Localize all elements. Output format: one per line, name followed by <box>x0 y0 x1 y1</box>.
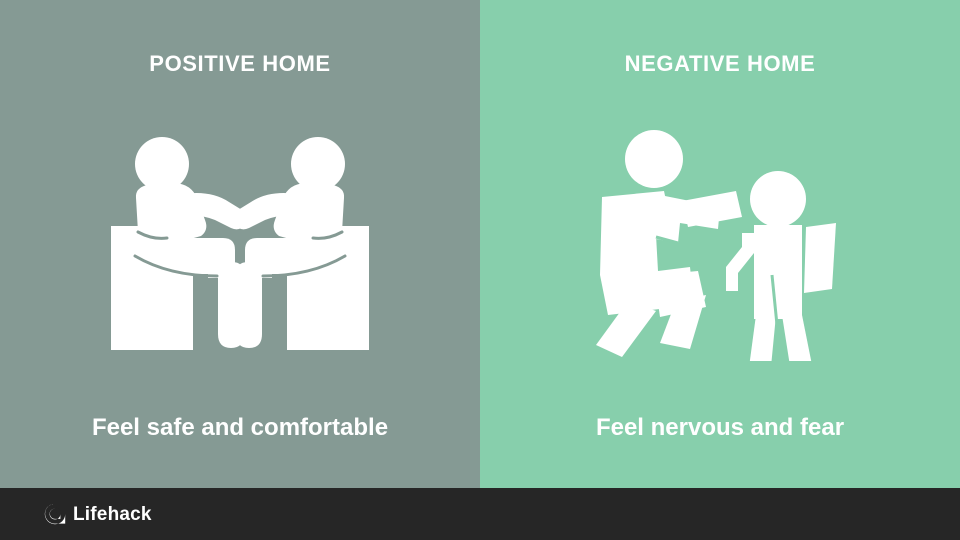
two-people-sitting-icon <box>105 128 375 358</box>
panel-caption-negative: Feel nervous and fear <box>596 416 844 440</box>
illustration-positive-home <box>0 75 480 416</box>
backpack-shape <box>804 223 836 293</box>
panel-caption-positive: Feel safe and comfortable <box>92 416 388 440</box>
child-figure <box>726 171 836 361</box>
adult-confronting-child-icon <box>594 125 846 361</box>
adult-figure <box>596 130 742 357</box>
footer-bar: Lifehack <box>0 488 960 540</box>
illustration-negative-home <box>480 75 960 416</box>
brand-lockup[interactable]: Lifehack <box>44 503 152 525</box>
comparison-panels: POSITIVE HOME <box>0 0 960 488</box>
brand-name-label: Lifehack <box>73 505 152 524</box>
slide-canvas: POSITIVE HOME <box>0 0 960 540</box>
panel-positive-home: POSITIVE HOME <box>0 0 480 488</box>
panel-title-positive: POSITIVE HOME <box>149 53 330 75</box>
panel-title-negative: NEGATIVE HOME <box>625 53 816 75</box>
lifehack-logo-icon <box>44 503 66 525</box>
panel-negative-home: NEGATIVE HOME <box>480 0 960 488</box>
